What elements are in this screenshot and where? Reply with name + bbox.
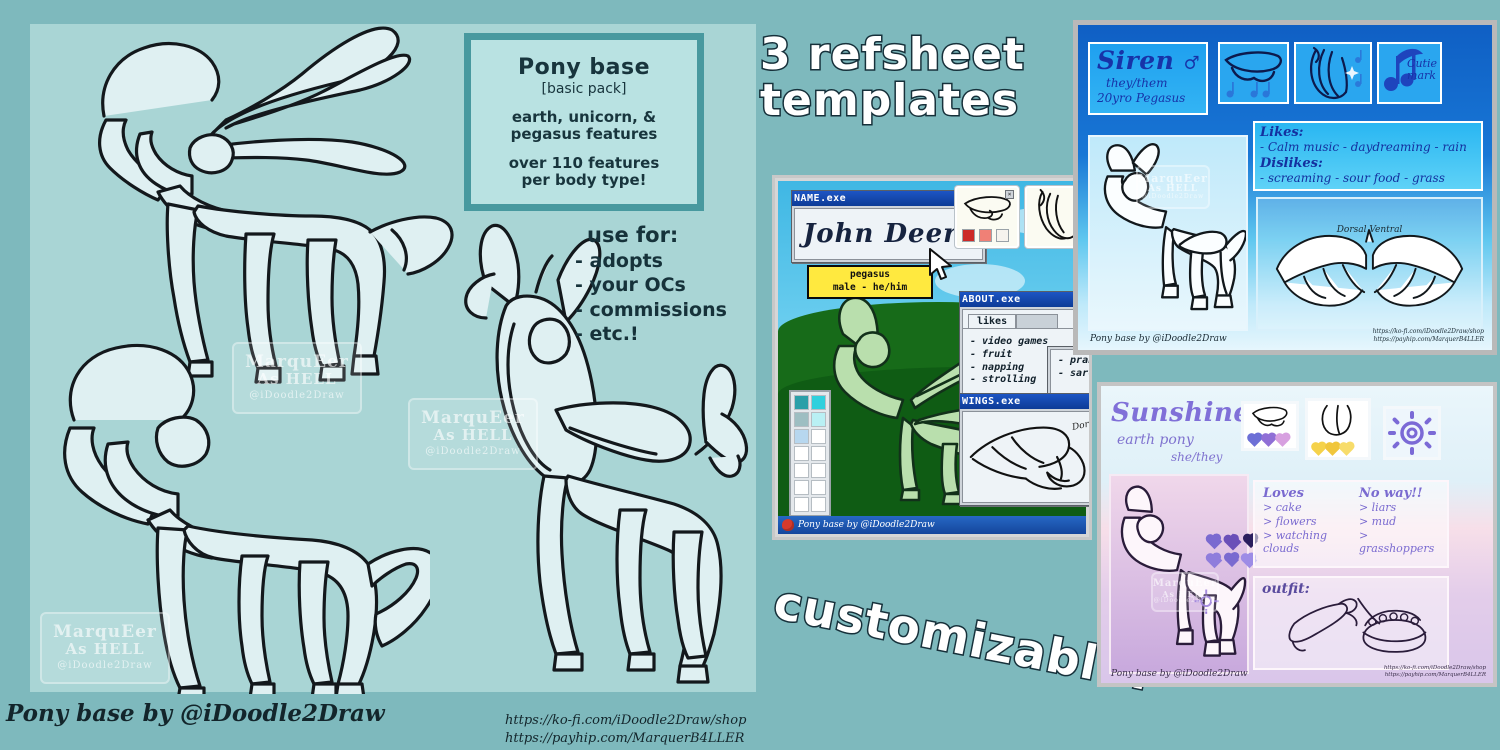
siren-wings-panel: Dorsal Ventral	[1256, 197, 1483, 331]
sunshine-loves-panel: Loves > cake > flowers > watching clouds…	[1253, 480, 1449, 568]
wings-window-title: WINGS.exe	[962, 396, 1021, 407]
sunshine-type: earth pony	[1117, 432, 1250, 448]
mouth-lineart	[1220, 44, 1287, 102]
siren-name-panel: Siren ♂ they/them 20yro Pegasus	[1088, 42, 1208, 115]
palette-swatch[interactable]	[811, 463, 826, 478]
palette-swatch[interactable]	[811, 429, 826, 444]
sunshine-mouth-panel	[1241, 401, 1299, 451]
palette-swatch[interactable]	[794, 395, 809, 410]
artist-credit: Pony base by @iDoodle2Draw	[6, 700, 385, 727]
info-subtitle: [basic pack]	[542, 81, 627, 97]
mouth-color-swatches[interactable]	[962, 229, 1009, 242]
music-note-decorations	[1227, 82, 1270, 98]
heart-swatch	[1248, 434, 1261, 447]
palette-swatch[interactable]	[794, 463, 809, 478]
loves-item: > cake	[1263, 501, 1359, 515]
win98-refsheet-template: NAME.exe _ X John Deer pegasus male - he…	[772, 175, 1092, 540]
palette-swatch[interactable]	[794, 446, 809, 461]
info-count: over 110 features per body type!	[509, 155, 660, 190]
sunshine-refsheet-template: Sunshine earth pony she/they	[1097, 382, 1497, 687]
sunshine-links: https://ko-fi.com/iDoodle2Draw/shop http…	[1384, 665, 1486, 679]
link-payhip[interactable]: https://payhip.com/MarquerB4LLER	[1373, 336, 1484, 344]
siren-age-type: 20yro Pegasus	[1097, 91, 1206, 105]
palette-swatch[interactable]	[794, 412, 809, 427]
tail-heart-swatches	[1314, 445, 1351, 454]
outfit-title: outfit:	[1262, 581, 1447, 597]
heart-decoration	[1225, 534, 1242, 551]
info-box: Pony base [basic pack] earth, unicorn, &…	[464, 33, 704, 211]
tail-lineart	[1296, 44, 1370, 102]
loves-item: > watching	[1263, 529, 1359, 543]
siren-refsheet-template: Siren ♂ they/them 20yro Pegasus	[1073, 20, 1497, 355]
heart-decoration	[1207, 553, 1223, 569]
heart-swatch	[1262, 434, 1275, 447]
siren-body-panel	[1088, 135, 1248, 331]
apple-icon	[782, 519, 794, 531]
taskbar[interactable]: Pony base by @iDoodle2Draw	[778, 516, 1086, 534]
list-item: - pranks	[1058, 355, 1092, 368]
sunshine-tail-panel	[1305, 398, 1371, 460]
sunshine-name-block: Sunshine earth pony she/they	[1111, 398, 1250, 464]
palette-swatch[interactable]	[811, 446, 826, 461]
earth-pony-lineart	[30, 324, 430, 694]
siren-refsheet-inner: Siren ♂ they/them 20yro Pegasus	[1078, 25, 1492, 350]
wings-window-titlebar[interactable]: WINGS.exe	[960, 394, 1092, 409]
sunshine-cutie-mark-panel	[1383, 406, 1441, 460]
loves-item: clouds	[1263, 542, 1359, 556]
palette-swatch[interactable]	[811, 395, 826, 410]
palette-swatch[interactable]	[794, 497, 809, 512]
headline-refsheet-templates: 3 refsheet templates	[760, 32, 1025, 124]
siren-cutie-mark-panel: Cutie mark	[1377, 42, 1442, 104]
noway-item: > liars	[1359, 501, 1447, 515]
link-kofi[interactable]: https://ko-fi.com/iDoodle2Draw/shop	[505, 712, 746, 730]
sunshine-outfit-panel: outfit:	[1253, 576, 1449, 670]
noway-item: > mud	[1359, 515, 1447, 529]
color-palette[interactable]	[789, 390, 831, 517]
wings-lineart	[1258, 199, 1481, 329]
cutie-mark-sun-icon	[1386, 409, 1438, 457]
swatch[interactable]	[962, 229, 975, 242]
outfit-lineart	[1255, 597, 1447, 659]
noway-title: No way!!	[1359, 486, 1447, 501]
heart-swatch	[1276, 434, 1289, 447]
about-window-title: ABOUT.exe	[962, 294, 1021, 305]
dislikes-title: Dislikes:	[1260, 156, 1481, 171]
link-kofi[interactable]: https://ko-fi.com/iDoodle2Draw/shop	[1373, 328, 1484, 336]
mouth-lineart	[1244, 404, 1296, 430]
sunshine-body-panel: MarquEer As HELL @iDoodle2Draw	[1109, 474, 1249, 674]
mouth-preview-bubble[interactable]: ×	[955, 186, 1019, 248]
siren-pony-lineart	[1090, 137, 1246, 329]
likes-text: - Calm music - daydreaming - rain	[1260, 140, 1481, 154]
palette-swatch[interactable]	[811, 412, 826, 427]
gender-symbol-icon: ♂	[1184, 53, 1201, 74]
heart-decoration	[1225, 553, 1239, 567]
noway-item: > grasshoppers	[1359, 529, 1447, 557]
loves-title: Loves	[1263, 486, 1359, 501]
likes-title: Likes:	[1260, 125, 1481, 140]
use-for-item: - your OCs	[575, 273, 727, 297]
use-for-item: - etc.!	[575, 322, 727, 346]
swatch[interactable]	[996, 229, 1009, 242]
siren-pronouns: they/them	[1106, 76, 1206, 90]
wings-window-body: Dorsal	[962, 411, 1092, 503]
use-for-list: use for: - adopts - your OCs - commissio…	[575, 222, 727, 346]
sunshine-pony-lineart	[1111, 476, 1247, 672]
siren-tail-panel	[1294, 42, 1372, 104]
link-payhip[interactable]: https://payhip.com/MarquerB4LLER	[505, 730, 746, 748]
palette-swatch[interactable]	[811, 497, 826, 512]
tab-likes[interactable]: likes	[968, 314, 1016, 328]
cutie-mark-label: Cutie mark	[1407, 58, 1437, 81]
info-features: earth, unicorn, & pegasus features	[511, 109, 658, 144]
shop-links: https://ko-fi.com/iDoodle2Draw/shop http…	[505, 712, 746, 747]
tab-dislikes[interactable]	[1016, 314, 1058, 328]
wings-window[interactable]: WINGS.exe Dorsal	[959, 393, 1092, 506]
tail-lineart	[1308, 401, 1368, 436]
taskbar-credit: Pony base by @iDoodle2Draw	[798, 520, 935, 530]
list-item: - sarcasm	[1058, 368, 1092, 381]
link-payhip[interactable]: https://payhip.com/MarquerB4LLER	[1384, 672, 1486, 679]
heart-decorations	[1209, 536, 1257, 566]
use-for-item: - adopts	[575, 249, 727, 273]
dislikes-text: - screaming - sour food - grass	[1260, 171, 1481, 185]
info-title: Pony base	[518, 55, 650, 80]
siren-links: https://ko-fi.com/iDoodle2Draw/shop http…	[1373, 328, 1484, 344]
palette-swatch[interactable]	[794, 480, 809, 495]
link-kofi[interactable]: https://ko-fi.com/iDoodle2Draw/shop	[1384, 665, 1486, 672]
sunshine-pronouns: she/they	[1171, 450, 1250, 464]
heart-decoration	[1207, 534, 1223, 550]
heart-swatch	[1312, 443, 1325, 456]
mouth-heart-swatches	[1250, 436, 1287, 445]
type-tag: pegasus male - he/him	[807, 265, 933, 299]
siren-likes-panel: Likes: - Calm music - daydreaming - rain…	[1253, 121, 1483, 191]
loves-item: > flowers	[1263, 515, 1359, 529]
use-for-item: - commissions	[575, 298, 727, 322]
info-box-inner: Pony base [basic pack] earth, unicorn, &…	[471, 40, 697, 204]
wing-labels: Dorsal Ventral	[1337, 225, 1403, 235]
sunshine-name: Sunshine	[1111, 398, 1250, 428]
use-for-heading: use for:	[575, 222, 727, 249]
palette-swatch[interactable]	[794, 429, 809, 444]
name-field-value[interactable]: John Deer	[803, 219, 958, 249]
mouse-cursor-icon	[928, 248, 954, 282]
palette-swatch[interactable]	[811, 480, 826, 495]
siren-credit: Pony base by @iDoodle2Draw	[1090, 334, 1227, 344]
heart-swatch	[1340, 443, 1353, 456]
close-icon[interactable]: ×	[1005, 190, 1014, 199]
sunshine-credit: Pony base by @iDoodle2Draw	[1111, 669, 1248, 679]
heart-swatch	[1326, 443, 1339, 456]
swatch[interactable]	[979, 229, 992, 242]
siren-name: Siren ♂	[1097, 46, 1206, 75]
sunshine-refsheet-inner: Sunshine earth pony she/they	[1101, 386, 1493, 683]
siren-mouth-panel	[1218, 42, 1289, 104]
name-window-title: NAME.exe	[794, 193, 846, 204]
about-window-secondary-body: - pranks - sarcasm	[1050, 349, 1092, 395]
